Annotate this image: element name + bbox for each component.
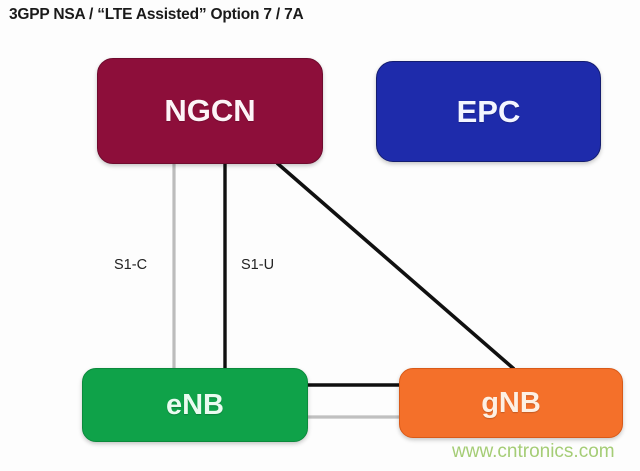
diagram-canvas: 3GPP NSA / “LTE Assisted” Option 7 / 7A … <box>0 0 640 471</box>
edge-label-s1-c: S1-C <box>114 257 147 273</box>
node-enb-label: eNB <box>166 389 224 422</box>
edge-ngcn-gnb <box>277 163 514 369</box>
node-ngcn-label: NGCN <box>164 93 255 129</box>
node-gnb[interactable]: gNB <box>399 368 623 438</box>
node-enb[interactable]: eNB <box>82 368 308 442</box>
node-ngcn[interactable]: NGCN <box>97 58 323 164</box>
node-epc-label: EPC <box>457 94 521 130</box>
node-epc[interactable]: EPC <box>376 61 601 162</box>
node-gnb-label: gNB <box>481 387 541 420</box>
watermark-text: www.cntronics.com <box>452 441 615 463</box>
edge-label-s1-u: S1-U <box>241 257 274 273</box>
